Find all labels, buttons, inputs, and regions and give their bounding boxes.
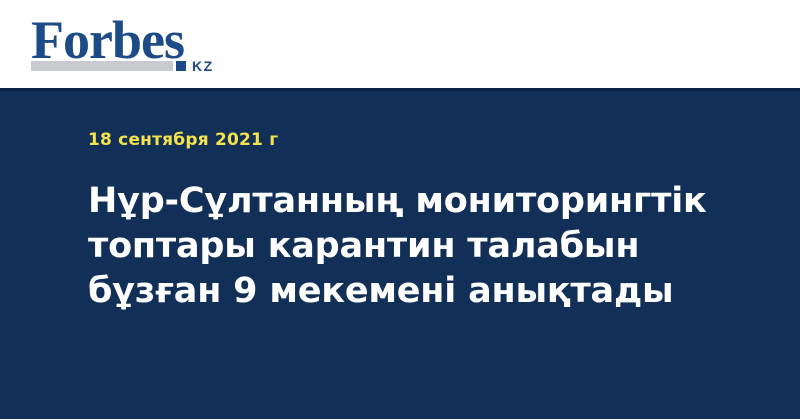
headline-line: бұзған 9 мекемені анықтады xyxy=(88,269,708,314)
article-date: 18 сентября 2021 г xyxy=(88,130,278,150)
site-header: Forbes KZ xyxy=(0,0,800,88)
logo-country-suffix: KZ xyxy=(192,59,214,73)
logo-square-mark-icon xyxy=(176,61,186,71)
logo-wordmark: Forbes xyxy=(31,13,184,67)
article-headline: Нұр-Сұлтанның мониторингтік топтары кара… xyxy=(88,179,708,314)
headline-line: топтары карантин талабын xyxy=(88,224,708,269)
headline-line: Нұр-Сұлтанның мониторингтік xyxy=(88,179,708,224)
hero-panel: 18 сентября 2021 г Нұр-Сұлтанның монитор… xyxy=(0,91,800,419)
article-hero-page: Forbes KZ 18 сентября 2021 г Нұр-Сұлтанн… xyxy=(0,0,800,419)
logo-underbar xyxy=(31,61,173,71)
forbes-kz-logo[interactable]: Forbes KZ xyxy=(31,13,261,77)
